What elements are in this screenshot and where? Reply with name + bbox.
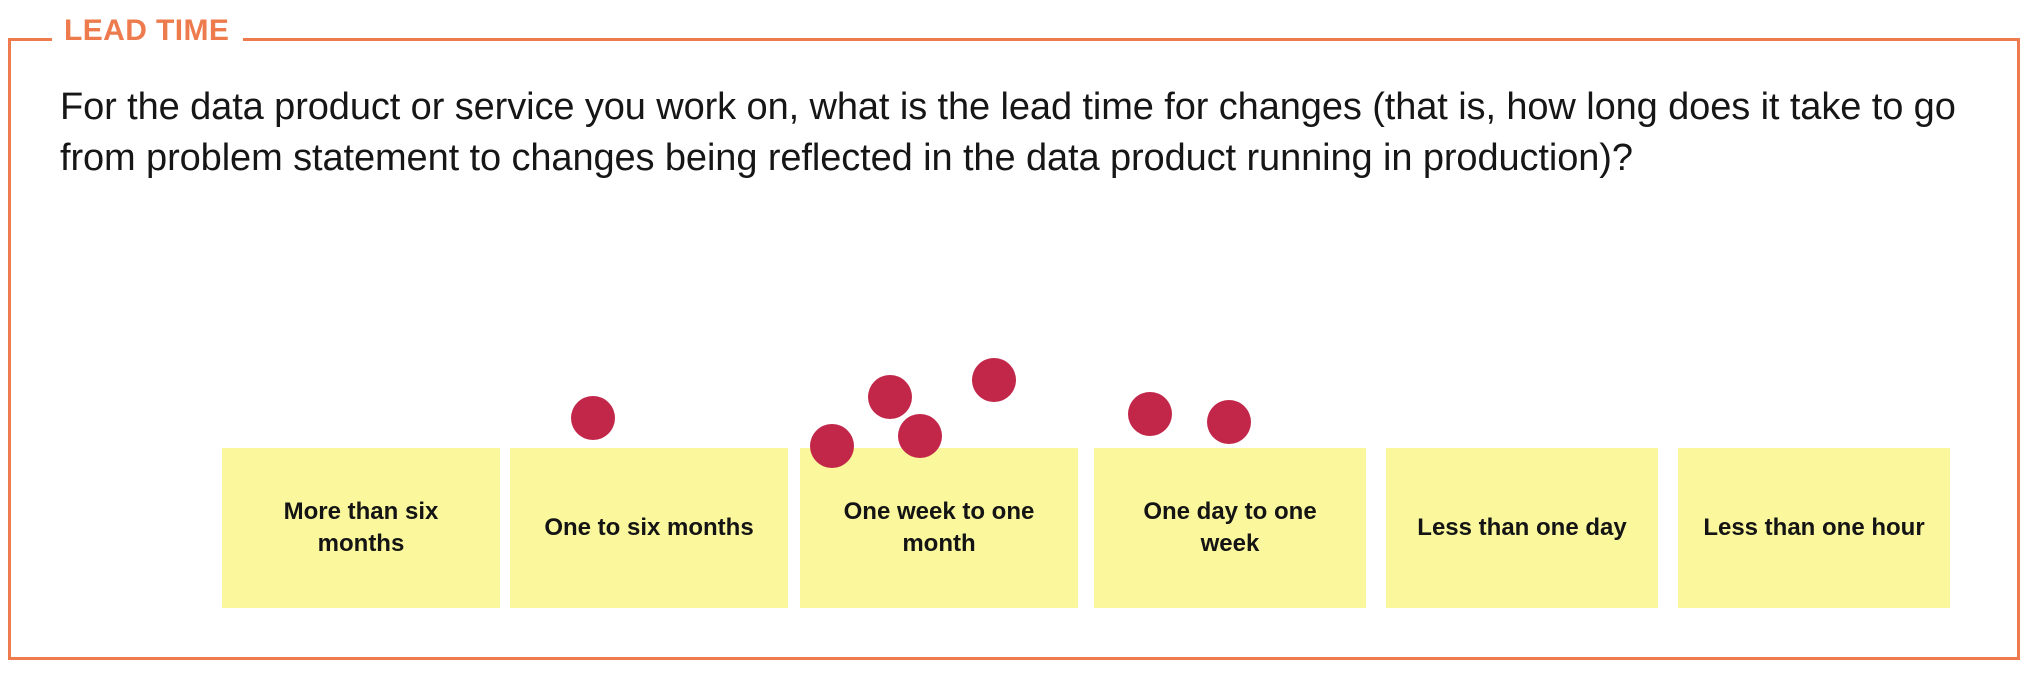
vote-dot[interactable] <box>972 358 1016 402</box>
section-title: LEAD TIME <box>52 14 243 48</box>
bucket-label: Less than one day <box>1407 512 1636 544</box>
bucket-label: Less than one hour <box>1693 512 1934 544</box>
vote-dot[interactable] <box>1207 400 1251 444</box>
vote-dot[interactable] <box>571 396 615 440</box>
bucket-label: One week to one month <box>834 496 1045 560</box>
bucket-label: One to six months <box>534 512 763 544</box>
bucket-label: One day to one week <box>1133 496 1326 560</box>
vote-dot[interactable] <box>868 375 912 419</box>
vote-dot[interactable] <box>898 414 942 458</box>
bucket-3[interactable]: One week to one month <box>800 448 1078 608</box>
vote-dot[interactable] <box>1128 392 1172 436</box>
question-text: For the data product or service you work… <box>60 82 1970 183</box>
bucket-4[interactable]: One day to one week <box>1094 448 1366 608</box>
bucket-5[interactable]: Less than one day <box>1386 448 1658 608</box>
bucket-2[interactable]: One to six months <box>510 448 788 608</box>
vote-dot[interactable] <box>810 424 854 468</box>
bucket-1[interactable]: More than six months <box>222 448 500 608</box>
survey-result-card: LEAD TIME For the data product or servic… <box>0 0 2036 678</box>
bucket-6[interactable]: Less than one hour <box>1678 448 1950 608</box>
bucket-label: More than six months <box>274 496 449 560</box>
